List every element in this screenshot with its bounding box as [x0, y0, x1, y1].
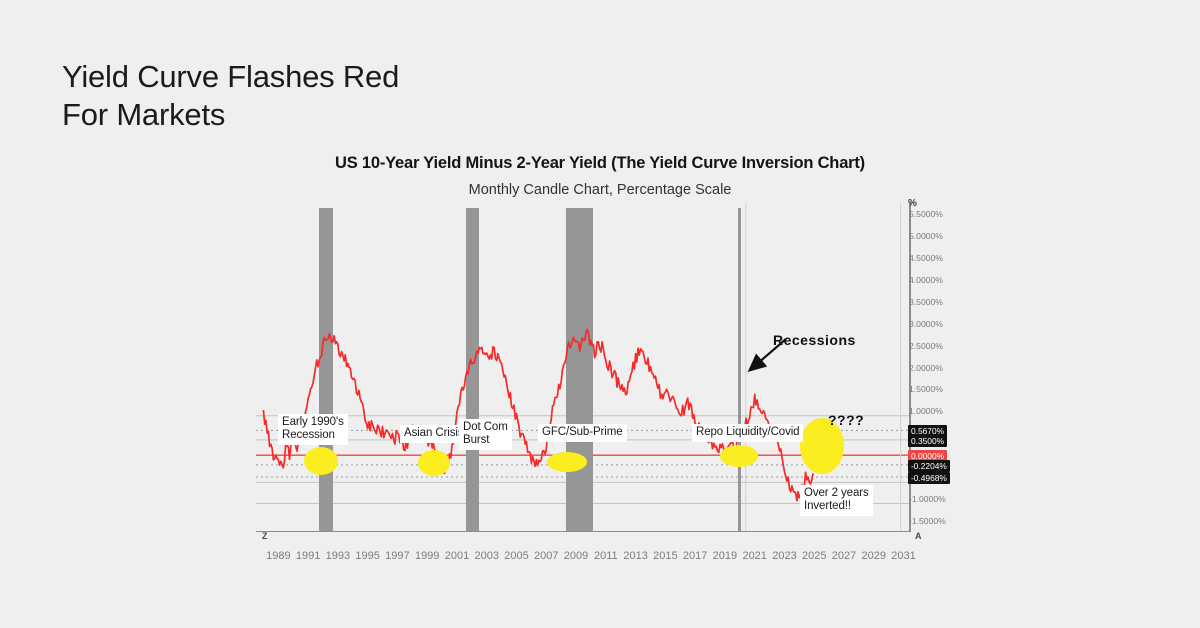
x-axis-tick: 2023	[772, 550, 796, 562]
x-axis-tick: 1999	[415, 550, 439, 562]
chart-subtitle: Monthly Candle Chart, Percentage Scale	[0, 182, 1200, 198]
page-headline: Yield Curve Flashes Red For Markets	[62, 58, 399, 134]
chart-title: US 10-Year Yield Minus 2-Year Yield (The…	[0, 154, 1200, 173]
x-axis-tick: 2017	[683, 550, 707, 562]
x-axis-tick: 2001	[445, 550, 469, 562]
x-axis-tick: 1989	[266, 550, 290, 562]
chart-y-axis: % 5.5000%5.0000%4.5000%4.0000%3.5000%3.0…	[906, 198, 976, 538]
x-axis-tick: 2011	[594, 550, 618, 562]
annotation-dot-com-burst: Dot Com Burst	[459, 419, 512, 450]
x-axis-tick: 2013	[623, 550, 647, 562]
x-axis-tick: 1995	[355, 550, 379, 562]
screenshot-root: Yield Curve Flashes Red For Markets US 1…	[0, 0, 1200, 628]
highlight-early-1990s	[304, 447, 338, 475]
y-axis-tick: 4.0000%	[909, 275, 943, 285]
y-axis-tick: 4.5000%	[909, 253, 943, 263]
annotation-gfc-sub-prime: GFC/Sub-Prime	[538, 424, 627, 442]
x-axis-tick: 1997	[385, 550, 409, 562]
y-axis-price-badge[interactable]: -0.2204%	[908, 460, 950, 472]
y-axis-tick: 3.5000%	[909, 297, 943, 307]
y-axis-tick: 5.0000%	[909, 231, 943, 241]
chart-canvas	[256, 203, 911, 532]
annotation-question-marks: ????	[828, 412, 864, 428]
x-axis-tick: 1991	[296, 550, 320, 562]
y-axis-price-badge[interactable]: 0.3500%	[908, 435, 947, 447]
x-axis-tick: 2025	[802, 550, 826, 562]
x-axis-tick: 2019	[713, 550, 737, 562]
x-axis-tick: 2029	[862, 550, 886, 562]
y-axis-tick: -1.5000%	[909, 516, 946, 526]
x-axis-tick: 2005	[504, 550, 528, 562]
right-corner-mark: A	[915, 531, 922, 541]
y-axis-tick: 1.0000%	[909, 406, 943, 416]
y-axis-tick: 2.0000%	[909, 363, 943, 373]
annotation-repo-liquidity-covid: Repo Liquidity/Covid	[692, 424, 803, 442]
left-corner-mark: Z	[262, 531, 268, 541]
y-axis-price-badge[interactable]: -0.4968%	[908, 472, 950, 484]
y-axis-tick: -1.0000%	[909, 494, 946, 504]
annotation-asian-crisis: Asian Crisis	[400, 425, 468, 443]
yield-spread-series	[256, 203, 911, 532]
y-axis-tick: 1.5000%	[909, 384, 943, 394]
x-axis-tick: 2027	[832, 550, 856, 562]
x-axis-tick: 2015	[653, 550, 677, 562]
percent-symbol: %	[908, 198, 917, 209]
x-axis-tick: 2003	[474, 550, 498, 562]
y-axis-tick: 2.5000%	[909, 341, 943, 351]
x-axis-tick: 2007	[534, 550, 558, 562]
chart-bottom-axis-line	[256, 531, 911, 532]
y-axis-tick: 5.5000%	[909, 209, 943, 219]
chart-x-axis: 1989199119931995199719992001200320052007…	[256, 550, 911, 570]
highlight-gfc	[547, 452, 587, 472]
highlight-repo-covid	[720, 445, 758, 467]
y-axis-tick: 3.0000%	[909, 319, 943, 329]
annotation-over-2-years-inverted: Over 2 years Inverted!!	[800, 485, 873, 516]
x-axis-tick: 2021	[742, 550, 766, 562]
x-axis-tick: 2009	[564, 550, 588, 562]
highlight-asian-crisis	[418, 450, 450, 476]
annotation-early-1990s-recession: Early 1990's Recession	[278, 414, 348, 445]
chart-plot-area	[256, 203, 911, 532]
annotation-recessions-label: Recessions	[773, 332, 856, 348]
x-axis-tick: 2031	[891, 550, 915, 562]
x-axis-tick: 1993	[326, 550, 350, 562]
